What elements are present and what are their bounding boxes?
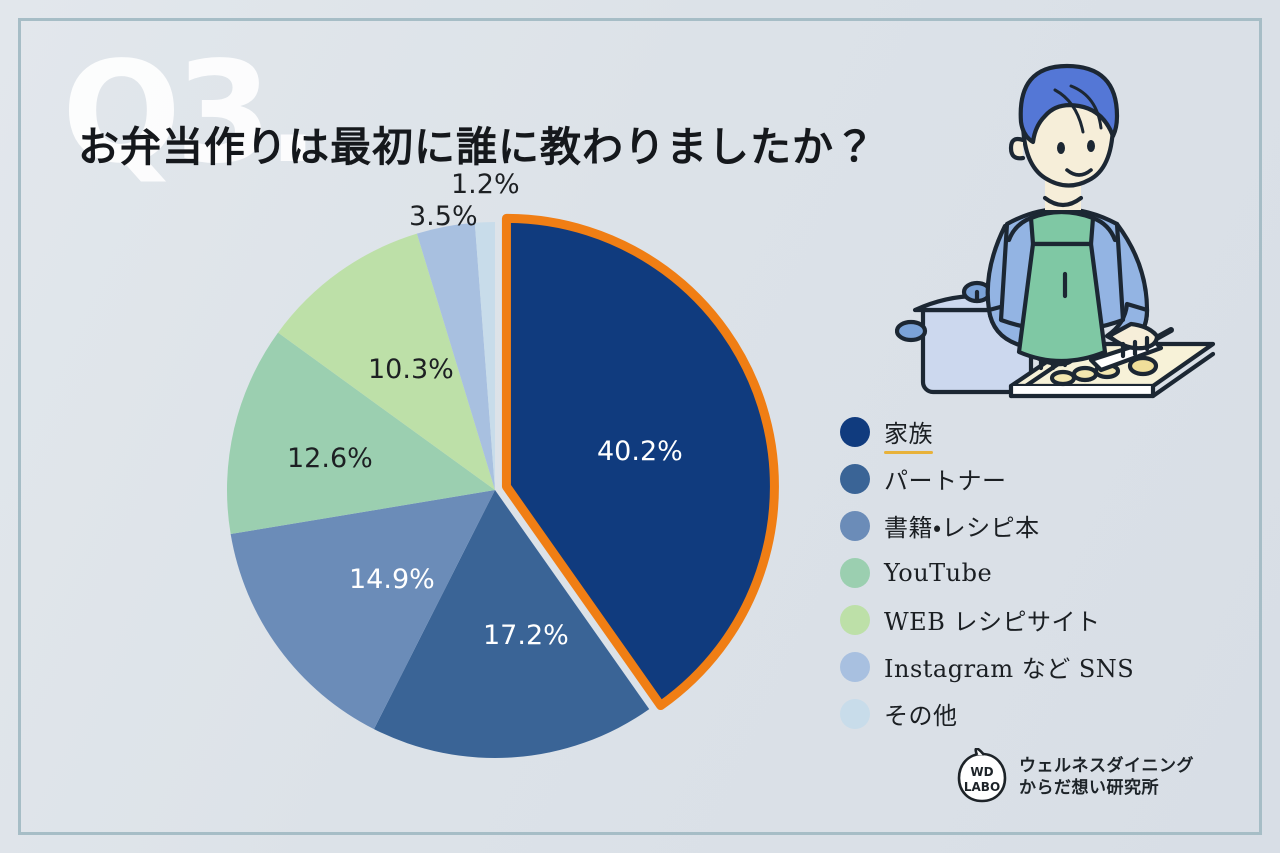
wd-badge-line2: LABO bbox=[964, 780, 1000, 794]
legend-item[interactable]: YouTube bbox=[840, 549, 1180, 596]
legend-item-label: その他 bbox=[884, 696, 958, 731]
page-title: お弁当作りは最初に誰に教わりましたか？ bbox=[78, 122, 876, 172]
person-cooking-illustration bbox=[895, 48, 1225, 418]
legend-item-label: Instagram など SNS bbox=[884, 649, 1134, 684]
wd-badge-line1: WD bbox=[970, 765, 993, 779]
legend-color-swatch bbox=[840, 464, 870, 494]
brand-name-line1: ウェルネスダイニング bbox=[1019, 755, 1194, 777]
legend-item[interactable]: 書籍・レシピ本 bbox=[840, 502, 1180, 549]
pie-chart-svg bbox=[195, 195, 795, 795]
legend-color-swatch bbox=[840, 605, 870, 635]
brand-logo: WD LABO ウェルネスダイニング からだ想い研究所 bbox=[955, 748, 1194, 806]
legend-color-swatch bbox=[840, 699, 870, 729]
slice-label-5: 3.5% bbox=[409, 201, 478, 232]
legend-item-label: 書籍・レシピ本 bbox=[884, 508, 1040, 543]
brand-name-line2: からだ想い研究所 bbox=[1019, 777, 1194, 799]
legend-item[interactable]: パートナー bbox=[840, 455, 1180, 502]
legend-item-label: パートナー bbox=[884, 461, 1007, 496]
wd-labo-badge-icon: WD LABO bbox=[955, 748, 1009, 806]
pie-chart bbox=[195, 195, 795, 795]
slice-label-2: 14.9% bbox=[349, 564, 435, 595]
slice-label-1: 17.2% bbox=[483, 620, 569, 651]
legend-item-label: WEB レシピサイト bbox=[884, 602, 1100, 637]
slice-label-4: 10.3% bbox=[368, 354, 454, 385]
legend-item[interactable]: WEB レシピサイト bbox=[840, 596, 1180, 643]
chart-legend: 家族パートナー書籍・レシピ本YouTubeWEB レシピサイトInstagram… bbox=[840, 408, 1180, 737]
legend-item[interactable]: その他 bbox=[840, 690, 1180, 737]
brand-name: ウェルネスダイニング からだ想い研究所 bbox=[1019, 755, 1194, 799]
legend-color-swatch bbox=[840, 511, 870, 541]
legend-color-swatch bbox=[840, 652, 870, 682]
infographic-canvas: Q3. お弁当作りは最初に誰に教わりましたか？ 40.2% 17.2% 14.9… bbox=[0, 0, 1280, 853]
legend-color-swatch bbox=[840, 558, 870, 588]
slice-label-6: 1.2% bbox=[451, 169, 520, 200]
legend-item[interactable]: Instagram など SNS bbox=[840, 643, 1180, 690]
legend-item-label: 家族 bbox=[884, 414, 933, 449]
slice-label-0: 40.2% bbox=[597, 436, 683, 467]
legend-item-label: YouTube bbox=[884, 559, 992, 587]
legend-color-swatch bbox=[840, 417, 870, 447]
slice-label-3: 12.6% bbox=[287, 443, 373, 474]
